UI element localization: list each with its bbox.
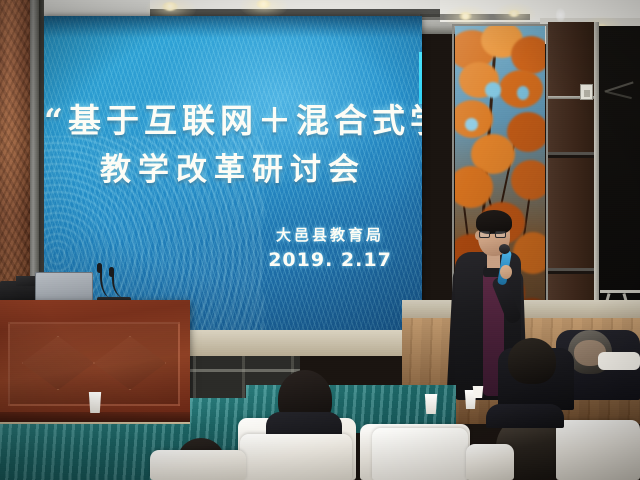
- lectern-base: [0, 412, 192, 422]
- paper-cup-3: [88, 392, 102, 413]
- chair-cover-left-front: [240, 434, 352, 480]
- ceiling-fixture: [556, 8, 565, 22]
- audience-head-mid-right: [508, 338, 556, 384]
- eyeglasses-left-lens: [479, 231, 490, 238]
- lectern-top: [0, 300, 190, 311]
- slide-title-line-2: 教学改革研讨会: [44, 144, 422, 189]
- slide-organization: 大邑县教育局: [240, 224, 420, 245]
- lectern-diamond-carving: [22, 336, 166, 390]
- dark-doorway: [599, 26, 640, 318]
- audience-shoulders-front-center: [486, 404, 564, 428]
- chair-cover-front-left: [466, 444, 514, 480]
- microphone-head-1: [97, 263, 102, 273]
- paper-cup-1: [424, 394, 438, 414]
- audience-collar-back-right: [598, 352, 640, 370]
- speaker-hand: [500, 265, 512, 279]
- microphone-head-2: [109, 267, 114, 277]
- slide-title-line-1: “基于互联网＋混合式学习”: [44, 94, 422, 142]
- light-switch[interactable]: [580, 84, 593, 100]
- slide-date: 2019. 2.17: [240, 249, 420, 271]
- doorway-sill: [600, 290, 640, 293]
- spotlight-glow-4: [494, 3, 536, 25]
- wall-seam: [548, 268, 594, 271]
- chair-cover-center-inner: [372, 428, 468, 480]
- chair-cover-front-right: [556, 420, 640, 480]
- chair-cover-far-left: [150, 450, 246, 480]
- paper-cup-lid: [472, 386, 484, 398]
- wall-seam: [548, 152, 594, 155]
- eyeglasses-right-lens: [495, 231, 506, 238]
- eyeglasses-bridge: [491, 233, 495, 234]
- wall-panel-mid: [548, 158, 594, 268]
- conference-photo-scene: “基于互联网＋混合式学习” 教学改革研讨会 大邑县教育局 2019. 2.17: [0, 0, 640, 480]
